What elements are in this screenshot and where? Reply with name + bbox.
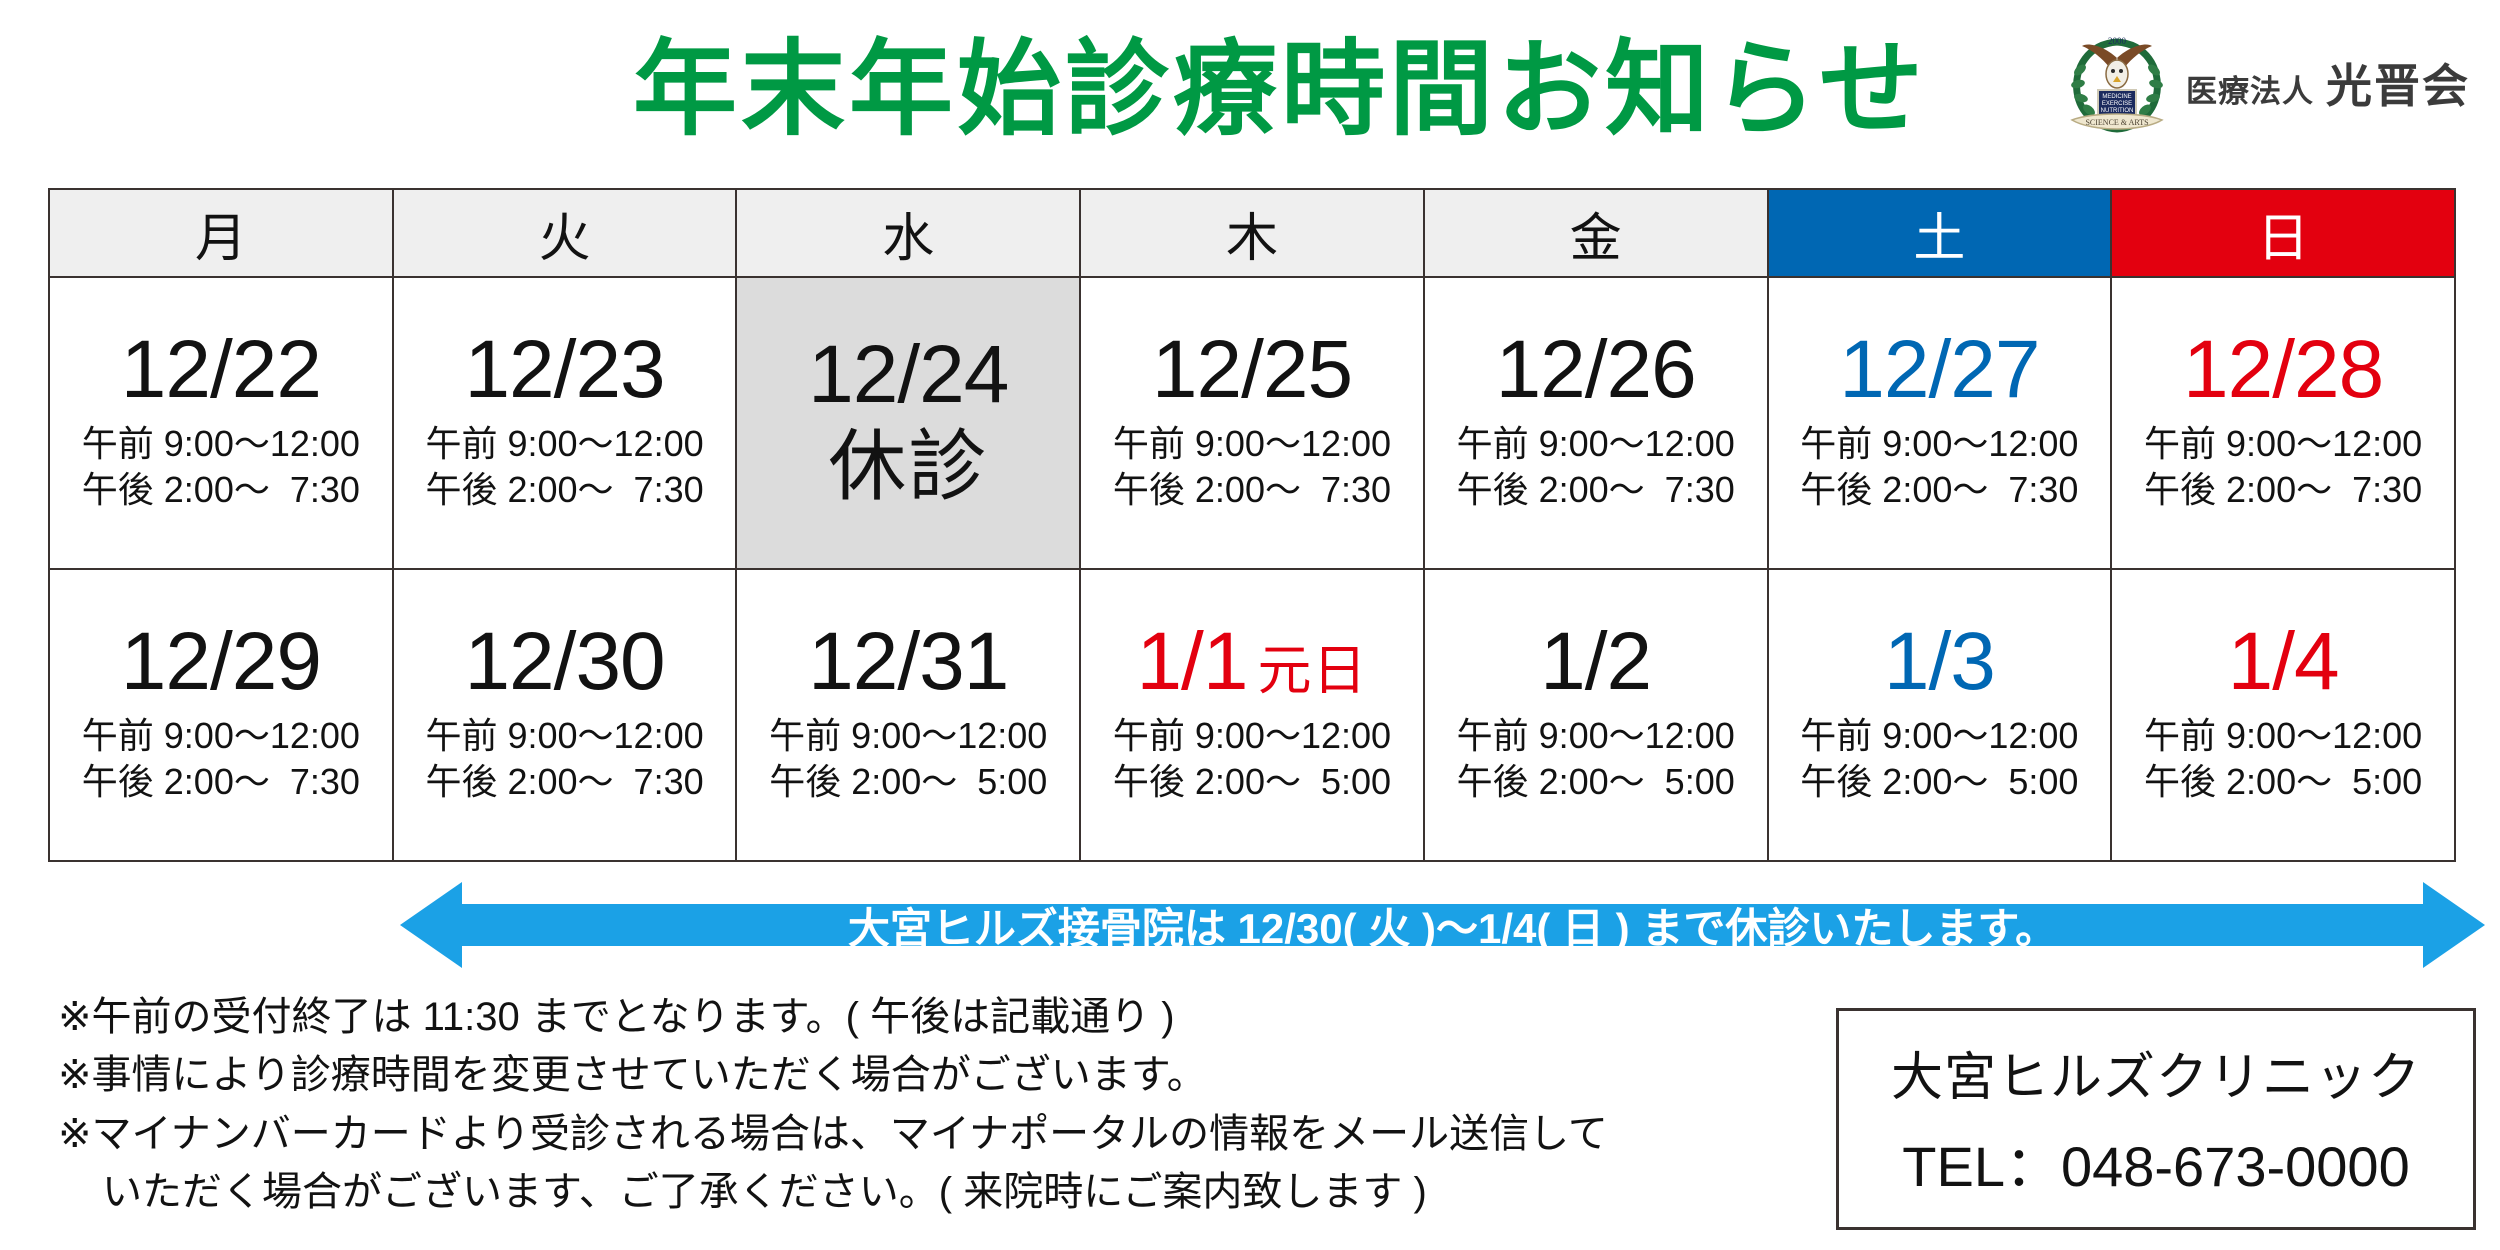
table-header-row: 月 火 水 木 金 土 日	[49, 189, 2455, 277]
date-line: 12/29	[121, 621, 321, 703]
date-line: 12/25	[1152, 329, 1352, 411]
afternoon-hours: 午後 2:00〜 7:30	[425, 467, 703, 513]
afternoon-hours: 午後 2:00〜 7:30	[425, 759, 703, 805]
morning-hours: 午前 9:00〜12:00	[769, 713, 1047, 759]
note-item: いただく場合がございます、ご了承ください。( 来院時にご案内致します )	[58, 1163, 1818, 1221]
schedule-table: 月 火 水 木 金 土 日 12/22 午前 9:00〜12:00 午後	[48, 188, 2456, 862]
day-cell: 12/28 午前 9:00〜12:00 午後 2:00〜 7:30	[2111, 277, 2455, 569]
organization-type: 医療法人	[2186, 66, 2314, 111]
svg-text:MEDICINE: MEDICINE	[2102, 94, 2131, 100]
note-item: ※マイナンバーカードより受診される場合は、マイナポータルの情報をメール送信して	[58, 1105, 1818, 1163]
clinic-contact-box: 大宮ヒルズクリニック TEL：048-673-0000	[1836, 1008, 2476, 1230]
date-label: 12/29	[121, 621, 321, 703]
day-cell: 1/2 午前 9:00〜12:00 午後 2:00〜 5:00	[1424, 569, 1768, 861]
morning-hours: 午前 9:00〜12:00	[1113, 421, 1391, 467]
day-cell: 12/27 午前 9:00〜12:00 午後 2:00〜 7:30	[1768, 277, 2112, 569]
morning-hours: 午前 9:00〜12:00	[1457, 421, 1735, 467]
date-line: 12/22	[121, 329, 321, 411]
day-cell: 1/4 午前 9:00〜12:00 午後 2:00〜 5:00	[2111, 569, 2455, 861]
organization-brand: 2000 MEDICINE EXERCISE NUTRITION SCIENCE…	[2062, 28, 2470, 138]
date-label: 12/22	[121, 329, 321, 411]
afternoon-hours: 午後 2:00〜 5:00	[1457, 759, 1735, 805]
day-cell: 12/30 午前 9:00〜12:00 午後 2:00〜 7:30	[393, 569, 737, 861]
afternoon-hours: 午後 2:00〜 5:00	[769, 759, 1047, 805]
morning-hours: 午前 9:00〜12:00	[1800, 421, 2078, 467]
date-label: 12/24	[808, 334, 1008, 416]
svg-text:EXERCISE: EXERCISE	[2102, 101, 2132, 107]
morning-hours: 午前 9:00〜12:00	[1457, 713, 1735, 759]
afternoon-hours: 午後 2:00〜 5:00	[1113, 759, 1391, 805]
date-label: 12/30	[464, 621, 664, 703]
afternoon-hours: 午後 2:00〜 7:30	[1113, 467, 1391, 513]
holiday-schedule-poster: 年末年始診療時間お知らせ	[0, 0, 2500, 1250]
organization-title: 光晋会	[2326, 50, 2470, 116]
organization-name: 医療法人 光晋会	[2186, 50, 2470, 116]
morning-hours: 午前 9:00〜12:00	[1113, 713, 1391, 759]
date-label: 12/28	[2183, 329, 2383, 411]
column-header-tuesday: 火	[393, 189, 737, 277]
date-label: 12/27	[1839, 329, 2039, 411]
date-label: 1/3	[1884, 621, 1995, 703]
day-cell: 12/29 午前 9:00〜12:00 午後 2:00〜 7:30	[49, 569, 393, 861]
day-cell: 12/26 午前 9:00〜12:00 午後 2:00〜 7:30	[1424, 277, 1768, 569]
date-label: 1/4	[2228, 621, 2339, 703]
date-line: 12/31	[808, 621, 1008, 703]
poster-header: 年末年始診療時間お知らせ	[0, 0, 2500, 180]
morning-hours: 午前 9:00〜12:00	[2144, 421, 2422, 467]
date-line: 12/23	[464, 329, 664, 411]
day-cell: 12/25 午前 9:00〜12:00 午後 2:00〜 7:30	[1080, 277, 1424, 569]
note-item-continuation: いただく場合がございます、ご了承ください。( 来院時にご案内致します )	[58, 1163, 1818, 1221]
eagle-crest-icon: 2000 MEDICINE EXERCISE NUTRITION SCIENCE…	[2062, 28, 2172, 138]
closure-banner-text: 大宮ヒルズ接骨院は 12/30( 火 )〜1/4( 日 ) まで休診いたします。	[400, 878, 2485, 972]
date-label: 1/1	[1136, 621, 1247, 703]
column-header-monday: 月	[49, 189, 393, 277]
afternoon-hours: 午後 2:00〜 5:00	[2144, 759, 2422, 805]
date-line: 12/26	[1496, 329, 1696, 411]
closure-banner: 大宮ヒルズ接骨院は 12/30( 火 )〜1/4( 日 ) まで休診いたします。	[400, 878, 2485, 972]
svg-text:2000: 2000	[2108, 36, 2127, 46]
date-line: 1/1 元日	[1136, 621, 1367, 703]
afternoon-hours: 午後 2:00〜 7:30	[82, 467, 360, 513]
afternoon-hours: 午後 2:00〜 7:30	[1800, 467, 2078, 513]
day-cell: 12/31 午前 9:00〜12:00 午後 2:00〜 5:00	[736, 569, 1080, 861]
morning-hours: 午前 9:00〜12:00	[82, 713, 360, 759]
clinic-name: 大宮ヒルズクリニック	[1891, 1035, 2421, 1110]
date-label: 1/2	[1540, 621, 1651, 703]
day-cell-closed: 12/24 休診	[736, 277, 1080, 569]
date-label: 12/26	[1496, 329, 1696, 411]
morning-hours: 午前 9:00〜12:00	[425, 421, 703, 467]
column-header-thursday: 木	[1080, 189, 1424, 277]
date-label: 12/25	[1152, 329, 1352, 411]
svg-text:NUTRITION: NUTRITION	[2101, 108, 2134, 114]
day-cell: 1/3 午前 9:00〜12:00 午後 2:00〜 5:00	[1768, 569, 2112, 861]
morning-hours: 午前 9:00〜12:00	[425, 713, 703, 759]
morning-hours: 午前 9:00〜12:00	[82, 421, 360, 467]
date-label: 12/23	[464, 329, 664, 411]
day-cell: 12/23 午前 9:00〜12:00 午後 2:00〜 7:30	[393, 277, 737, 569]
date-label: 12/31	[808, 621, 1008, 703]
morning-hours: 午前 9:00〜12:00	[1800, 713, 2078, 759]
column-header-saturday: 土	[1768, 189, 2112, 277]
date-line: 1/3	[1884, 621, 1995, 703]
date-line: 12/27	[1839, 329, 2039, 411]
afternoon-hours: 午後 2:00〜 7:30	[2144, 467, 2422, 513]
svg-text:SCIENCE & ARTS: SCIENCE & ARTS	[2085, 118, 2148, 127]
clinic-phone[interactable]: TEL：048-673-0000	[1902, 1122, 2409, 1203]
date-line: 1/2	[1540, 621, 1651, 703]
date-line: 12/28	[2183, 329, 2383, 411]
column-header-friday: 金	[1424, 189, 1768, 277]
afternoon-hours: 午後 2:00〜 7:30	[1457, 467, 1735, 513]
closed-label: 休診	[828, 426, 988, 508]
note-item: ※午前の受付終了は 11:30 までとなります。( 午後は記載通り )	[58, 988, 1818, 1046]
day-cell: 1/1 元日 午前 9:00〜12:00 午後 2:00〜 5:00	[1080, 569, 1424, 861]
morning-hours: 午前 9:00〜12:00	[2144, 713, 2422, 759]
date-line: 1/4	[2228, 621, 2339, 703]
date-line: 12/24	[808, 334, 1008, 416]
table-row: 12/22 午前 9:00〜12:00 午後 2:00〜 7:30 12/23 …	[49, 277, 2455, 569]
page-title: 年末年始診療時間お知らせ	[633, 38, 1927, 142]
notes-list: ※午前の受付終了は 11:30 までとなります。( 午後は記載通り ) ※事情に…	[58, 988, 1818, 1222]
holiday-name: 元日	[1257, 644, 1367, 698]
column-header-sunday: 日	[2111, 189, 2455, 277]
afternoon-hours: 午後 2:00〜 5:00	[1800, 759, 2078, 805]
day-cell: 12/22 午前 9:00〜12:00 午後 2:00〜 7:30	[49, 277, 393, 569]
note-item: ※事情により診療時間を変更させていただく場合がございます。	[58, 1046, 1818, 1104]
column-header-wednesday: 水	[736, 189, 1080, 277]
date-line: 12/30	[464, 621, 664, 703]
table-row: 12/29 午前 9:00〜12:00 午後 2:00〜 7:30 12/30 …	[49, 569, 2455, 861]
afternoon-hours: 午後 2:00〜 7:30	[82, 759, 360, 805]
